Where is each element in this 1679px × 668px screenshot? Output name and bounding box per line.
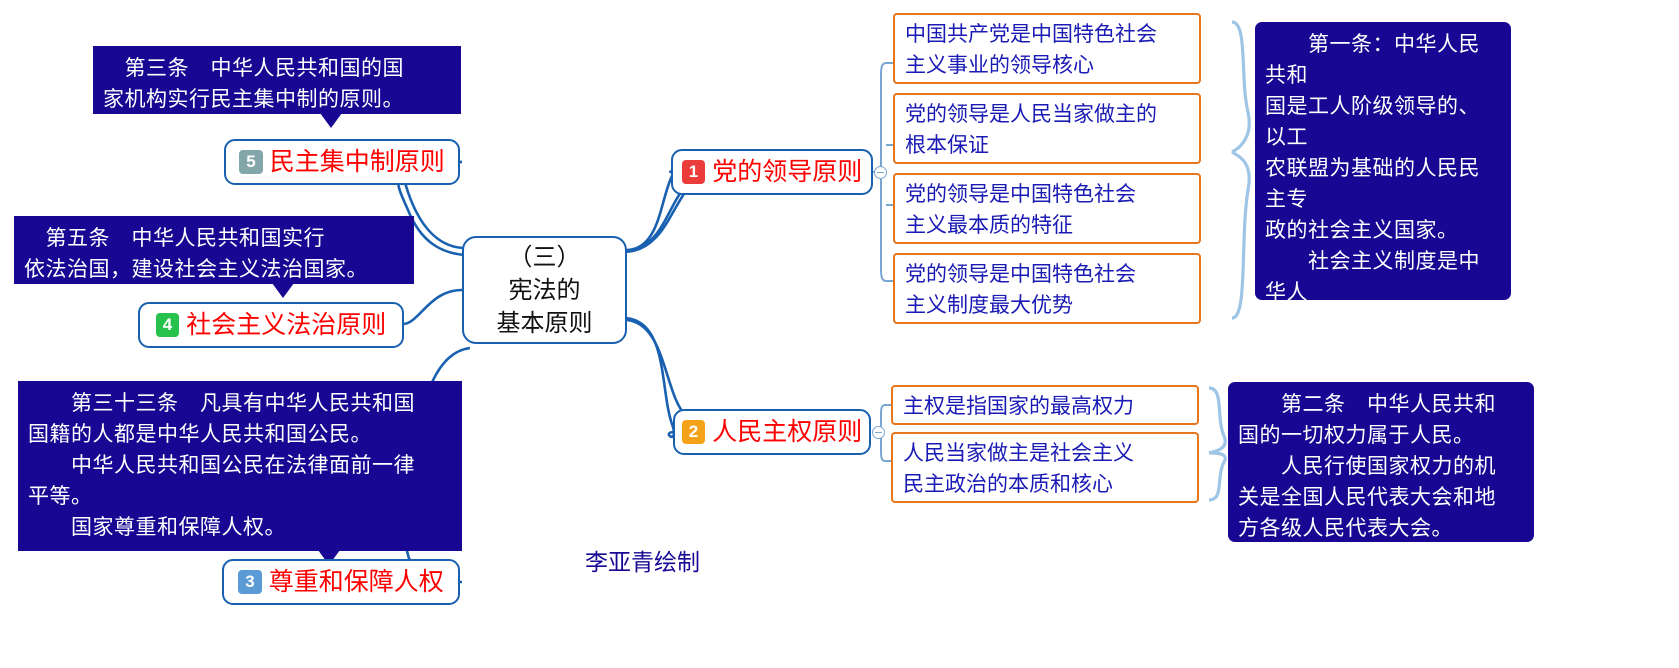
article-2-box: 第二条 中华人民共和 国的一切权力属于人民。 人民行使国家权力的机 关是全国人民… <box>1228 382 1534 542</box>
article-5-pointer <box>272 283 294 298</box>
leaf-party-leadership-4[interactable]: 党的领导是中国特色社会 主义制度最大优势 <box>893 253 1201 324</box>
principle-label-socialist-rule-of-law: 社会主义法治原则 <box>186 310 386 340</box>
principle-node-people-sovereignty[interactable]: 2 人民主权原则 <box>673 409 871 455</box>
collapse-toggle-party-leadership[interactable] <box>874 166 887 179</box>
center-line-3: 基本原则 <box>497 307 593 340</box>
leaf-party-leadership-3[interactable]: 党的领导是中国特色社会 主义最本质的特征 <box>893 173 1201 244</box>
badge-4: 4 <box>156 313 179 337</box>
center-line-1: （三） <box>509 241 581 274</box>
leaf-people-sovereignty-2[interactable]: 人民当家做主是社会主义 民主政治的本质和核心 <box>891 432 1199 503</box>
collapse-toggle-people-sovereignty[interactable] <box>872 426 885 439</box>
principle-label-people-sovereignty: 人民主权原则 <box>712 417 862 447</box>
leaf-party-leadership-2[interactable]: 党的领导是人民当家做主的 根本保证 <box>893 93 1201 164</box>
author-signature: 李亚青绘制 <box>585 548 700 576</box>
center-node[interactable]: （三） 宪法的 基本原则 <box>462 236 627 344</box>
principle-node-democratic-centralism[interactable]: 5 民主集中制原则 <box>224 139 460 185</box>
leaf-party-leadership-1[interactable]: 中国共产党是中国特色社会 主义事业的领导核心 <box>893 13 1201 84</box>
badge-3: 3 <box>238 570 261 594</box>
badge-5: 5 <box>239 150 262 174</box>
article-33-box: 第三十三条 凡具有中华人民共和国 国籍的人都是中华人民共和国公民。 中华人民共和… <box>18 381 462 551</box>
principle-node-party-leadership[interactable]: 1 党的领导原则 <box>671 149 873 195</box>
article-1-box: 第一条：中华人民共和 国是工人阶级领导的、以工 农联盟为基础的人民民主专 政的社… <box>1255 22 1511 300</box>
badge-1: 1 <box>682 160 705 184</box>
principle-node-socialist-rule-of-law[interactable]: 4 社会主义法治原则 <box>138 302 404 348</box>
center-line-2: 宪法的 <box>509 274 581 307</box>
mindmap-canvas: 第三条 中华人民共和国的国 家机构实行民主集中制的原则。 5 民主集中制原则 第… <box>0 0 1679 668</box>
article-3-pointer <box>320 113 342 128</box>
badge-2: 2 <box>682 420 705 444</box>
article-5-box: 第五条 中华人民共和国实行 依法治国，建设社会主义法治国家。 <box>14 216 414 284</box>
leaf-people-sovereignty-1[interactable]: 主权是指国家的最高权力 <box>891 385 1199 425</box>
article-3-box: 第三条 中华人民共和国的国 家机构实行民主集中制的原则。 <box>93 46 461 114</box>
principle-label-party-leadership: 党的领导原则 <box>712 157 862 187</box>
principle-label-human-rights: 尊重和保障人权 <box>269 567 444 597</box>
principle-label-democratic-centralism: 民主集中制原则 <box>270 147 445 177</box>
principle-node-human-rights[interactable]: 3 尊重和保障人权 <box>222 559 460 605</box>
